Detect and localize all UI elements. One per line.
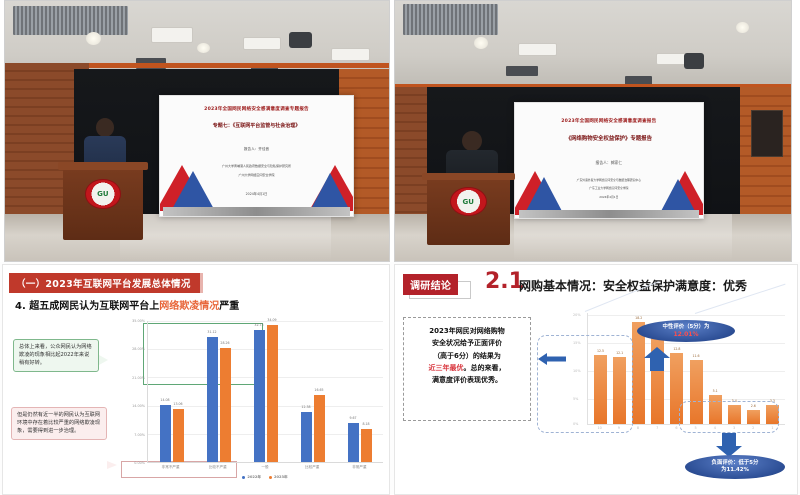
slide-subtitle: 《网络购物安全权益保护》专题报告 [526, 134, 692, 142]
textbox-line-2: 安全状况给予正面评价 [410, 337, 524, 349]
bar-value: 16.65 [314, 388, 323, 392]
callout-green: 总体上来看，公众网民认为网络欺凌的现象相比起2022年来说稍有好转。 [13, 339, 99, 372]
bar-value: 14.08 [160, 398, 169, 402]
arrow-down-icon [715, 433, 743, 457]
x-label: 比较不严重 [194, 465, 241, 470]
bar-groups: 14.08 13.06 31.12 28.26 32.73 34.09 12 [148, 321, 383, 462]
floor-reflection [514, 214, 732, 261]
podium-right: GU [427, 173, 510, 246]
bar-2022: 31.12 [207, 337, 218, 462]
bar-value: 12.8 [673, 347, 680, 351]
speaker-head [96, 118, 114, 137]
bar-group: 32.73 34.09 [242, 321, 289, 462]
bar-value: 31.12 [207, 330, 216, 334]
ceiling-light [518, 43, 558, 56]
ellipse-label: 负面评价：低于5分 [712, 460, 759, 467]
photo-collage-row: 2023年全国网民网络安全感满意度调查专题报告 专题七：《互联网平台监管与社会治… [0, 0, 800, 262]
slide-title: 2023年全国网民网络安全感满意度调查报告 [526, 118, 692, 124]
legend-item-2022: 2022年 [242, 475, 261, 480]
bar-2023: 28.26 [220, 348, 231, 462]
x-label: 7 [648, 426, 667, 430]
callout-ellipse-neutral: 中性评价（5分）为 12.01% [637, 320, 735, 342]
chart-legend: 2022年 2023年 [147, 475, 383, 480]
y-tick: 35.00% [132, 319, 145, 323]
podium-emblem: GU [450, 187, 487, 216]
projection-screen-left: 2023年全国网民网络安全感满意度调查专题报告 专题七：《互联网平台监管与社会治… [159, 95, 355, 217]
callout-green-tail [99, 355, 108, 365]
subtitle-prefix: 4. 超五成网民认为互联网平台上 [15, 301, 159, 312]
bar-2022: 32.73 [254, 330, 265, 462]
subtitle-highlight: 网络欺凌情况 [159, 301, 219, 312]
podium-emblem: GU [85, 179, 120, 209]
group-box-negative [679, 401, 779, 433]
y-axis: 35.00% 28.00% 21.00% 14.00% 7.00% 0.00% [121, 321, 147, 463]
bar-value: 13.06 [173, 402, 182, 406]
bar-group: 14.08 13.06 [148, 321, 195, 462]
callout-pink: 但是仍然有近一半的网民认为互联网环境中存在着比较严重的网络欺凌现象，需要得到进一… [11, 407, 107, 440]
ceiling-grill [13, 6, 128, 35]
podium-left: GU [63, 162, 144, 240]
bar-2023: 16.65 [314, 395, 325, 462]
ceiling-spotlight [86, 32, 101, 45]
bar-value: 12.38 [301, 405, 310, 409]
score-bar-8: 18.2 [632, 322, 645, 424]
ceiling-light [243, 37, 281, 50]
speaker-head [462, 131, 483, 151]
ceiling-vent [506, 66, 538, 76]
bar-2023: 8.18 [361, 429, 372, 462]
x-label: 非常不严重 [147, 465, 194, 470]
x-label: 比较严重 [289, 465, 336, 470]
conference-photo-left: 2023年全国网民网络安全感满意度调查专题报告 专题七：《互联网平台监管与社会治… [4, 0, 390, 262]
projector [289, 32, 312, 48]
legend-label: 2023年 [274, 475, 288, 480]
subtitle-suffix: 严重 [219, 301, 239, 312]
y-tick: 20% [573, 313, 581, 317]
ellipse-label: 中性评价（5分）为 [663, 324, 710, 331]
bar-2022: 14.08 [160, 405, 171, 462]
slide-date: 2024年4月1日 [175, 191, 338, 196]
slide-left-platform-overview: （一）2023年互联网平台发展总体情况 4. 超五成网民认为互联网平台上网络欺凌… [2, 264, 390, 495]
ceiling-grill [403, 4, 498, 35]
slide-presenter: 报告人：郭家仁 [530, 160, 688, 166]
conclusion-textbox: 2023年网民对网络购物 安全状况给予正面评价 （高于6分）的结果为 近三年最优… [403, 317, 531, 421]
slide-org-1: 广东外语外贸大学网络空间安全与数据治理研究中心 [530, 178, 688, 182]
slide-subtitle: 专题七：《互联网平台监管与社会治理》 [171, 122, 342, 129]
bar-value: 18.2 [635, 316, 642, 320]
conclusion-badge: 调研结论 [403, 274, 458, 295]
projection-screen-right: 2023年全国网民网络安全感满意度调查报告 《网络购物安全权益保护》专题报告 报… [514, 102, 704, 219]
screenshot-root: 2023年全国网民网络安全感满意度调查专题报告 专题七：《互联网平台监管与社会治… [0, 0, 800, 495]
bar-group: 31.12 28.26 [195, 321, 242, 462]
ceiling-light [331, 48, 369, 61]
plot-area: 14.08 13.06 31.12 28.26 32.73 34.09 12 [147, 321, 383, 463]
bar-value: 9.67 [349, 416, 356, 420]
chart-network-bullying: 35.00% 28.00% 21.00% 14.00% 7.00% 0.00% [121, 321, 383, 491]
bar-value: 5.1 [713, 389, 718, 393]
textbox-line-3: （高于6分）的结果为 [410, 350, 524, 362]
bar-value: 32.73 [254, 323, 263, 327]
legend-swatch-orange [269, 476, 272, 479]
wall-artwork [751, 110, 783, 157]
textbox-line-5: 满意度评价表现优秀。 [410, 374, 524, 386]
y-tick: 0.00% [134, 461, 145, 465]
bar-2022: 9.67 [348, 423, 359, 462]
ceiling-light [151, 27, 193, 43]
textbox-line-4: 近三年最优。总的来看， [410, 362, 524, 374]
slide-subtitle-line: 4. 超五成网民认为互联网平台上网络欺凌情况严重 [15, 297, 239, 312]
textbox-highlight: 近三年最优 [429, 364, 464, 372]
section-ribbon: （一）2023年互联网平台发展总体情况 [9, 273, 203, 293]
y-tick: 7.00% [134, 433, 145, 437]
bar-group: 12.38 16.65 [289, 321, 336, 462]
x-axis-labels: 非常不严重 比较不严重 一般 比较严重 非常严重 [147, 465, 383, 470]
screen-base [519, 210, 700, 218]
bar-2023: 34.09 [267, 325, 278, 462]
slides-collage-row: （一）2023年互联网平台发展总体情况 4. 超五成网民认为互联网平台上网络欺凌… [0, 264, 800, 495]
slide-org-2: 广东工业大学网络空间安全学院 [530, 186, 688, 190]
callout-pink-tail [107, 461, 117, 469]
bar-2023: 13.06 [173, 409, 184, 462]
legend-label: 2022年 [247, 475, 261, 480]
bar-value: 28.26 [220, 341, 229, 345]
group-box-positive [537, 335, 633, 433]
ellipse-value: 12.01% [674, 331, 699, 339]
x-label: 一般 [241, 465, 288, 470]
podium-top [422, 173, 515, 180]
podium-top [58, 162, 148, 170]
bar-value: 8.18 [362, 422, 369, 426]
legend-swatch-blue [242, 476, 245, 479]
y-tick: 28.00% [132, 347, 145, 351]
slide-presenter: 报告人：齐佳音 [175, 147, 338, 152]
slide-org-1: 广州大学黄埔港人民政府数据安全与隐私保护研究所 [175, 164, 338, 168]
bar-2022: 12.38 [301, 412, 312, 462]
slide-title: 2023年全国网民网络安全感满意度调查专题报告 [171, 106, 342, 112]
legend-item-2023: 2023年 [269, 475, 288, 480]
slide-right-online-shopping: 调研结论 2.1 网购基本情况：安全权益保护满意度：优秀 2023年网民对网络购… [394, 264, 798, 495]
slide-date: 2024年4月1日 [530, 195, 688, 199]
screen-base [163, 207, 349, 215]
arrow-up-icon [643, 347, 671, 371]
bar-group: 9.67 8.18 [336, 321, 383, 462]
bar-value: 34.09 [267, 318, 276, 322]
projector [684, 53, 704, 69]
ellipse-value: 为11.42% [721, 467, 749, 474]
slide-org-2: 广州大学网络空间安全学院 [175, 173, 338, 177]
textbox-line-4-rest: 。总的来看， [464, 364, 506, 372]
y-tick: 21.00% [132, 376, 145, 380]
y-tick: 14.00% [132, 404, 145, 408]
floor-reflection [120, 214, 331, 261]
textbox-line-1: 2023年网民对网络购物 [410, 325, 524, 337]
x-label: 非常严重 [336, 465, 383, 470]
callout-ellipse-negative: 负面评价：低于5分 为11.42% [685, 455, 785, 479]
bar-value: 11.6 [692, 354, 699, 358]
conference-photo-right: 2023年全国网民网络安全感满意度调查报告 《网络购物安全权益保护》专题报告 报… [394, 0, 792, 262]
